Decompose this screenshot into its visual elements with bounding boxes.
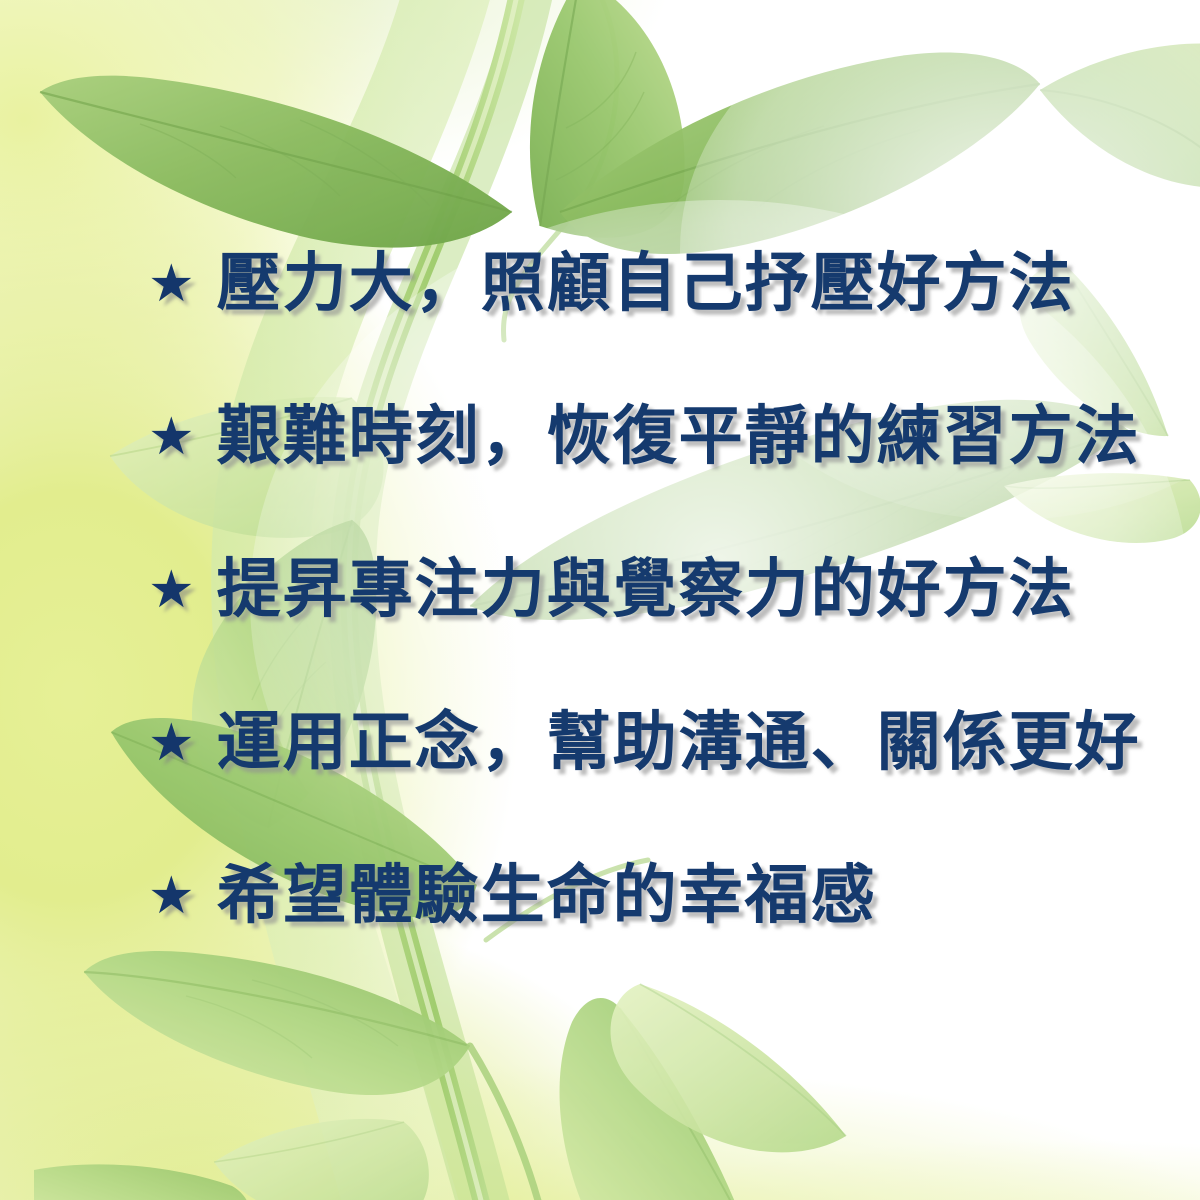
bullet-item-1: ★ 壓力大，照顧自己抒壓好方法 (148, 252, 1075, 316)
bullet-item-4: ★ 運用正念，幫助溝通、關係更好 (148, 711, 1141, 775)
bullet-item-2: ★ 艱難時刻，恢復平靜的練習方法 (148, 405, 1141, 469)
bullet-text-3: 提昇專注力與覺察力的好方法 (217, 558, 1075, 622)
bullet-text-5: 希望體驗生命的幸福感 (217, 864, 877, 928)
star-icon: ★ (148, 564, 195, 616)
star-icon: ★ (148, 717, 195, 769)
star-icon: ★ (148, 870, 195, 922)
bullet-text-1: 壓力大，照顧自己抒壓好方法 (217, 252, 1075, 316)
star-icon: ★ (148, 411, 195, 463)
bullet-text-2: 艱難時刻，恢復平靜的練習方法 (217, 405, 1141, 469)
poster-canvas: ★ 壓力大，照顧自己抒壓好方法 ★ 艱難時刻，恢復平靜的練習方法 ★ 提昇專注力… (0, 0, 1200, 1200)
bullet-list: ★ 壓力大，照顧自己抒壓好方法 ★ 艱難時刻，恢復平靜的練習方法 ★ 提昇專注力… (0, 0, 1200, 1200)
star-icon: ★ (148, 258, 195, 310)
bullet-text-4: 運用正念，幫助溝通、關係更好 (217, 711, 1141, 775)
bullet-item-5: ★ 希望體驗生命的幸福感 (148, 864, 877, 928)
bullet-item-3: ★ 提昇專注力與覺察力的好方法 (148, 558, 1075, 622)
